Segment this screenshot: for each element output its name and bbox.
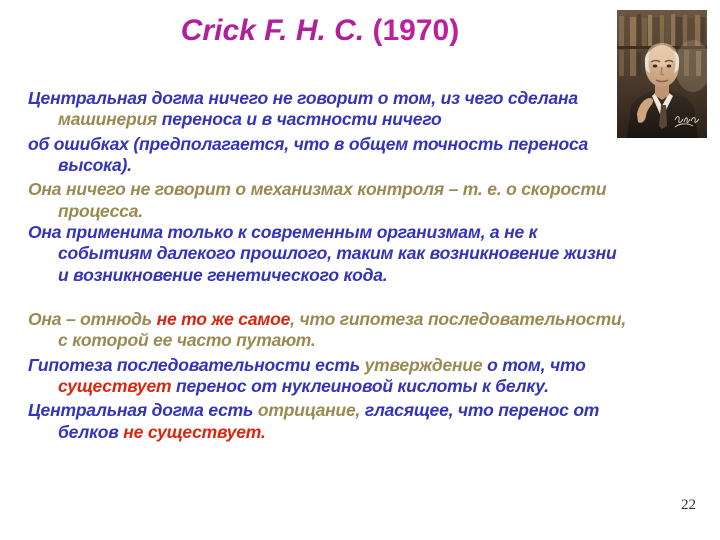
run-text: Она применима только к современным орган… (28, 222, 616, 285)
bullet-paragraph-1: Центральная догма ничего не говорит о то… (28, 88, 628, 131)
slide-body: Центральная догма ничего не говорит о то… (28, 88, 628, 443)
run-text: Центральная догма ничего не говорит о то… (28, 88, 578, 108)
run-text: Центральная догма есть (28, 400, 258, 420)
bullet-paragraph-2: об ошибках (предполагается, что в общем … (28, 134, 628, 177)
bullet-paragraph-4: Она применима только к современным орган… (28, 222, 628, 286)
run-text: Она – отнюдь (28, 309, 157, 329)
run-text-highlight-not-the-same: не то же самое (157, 309, 291, 329)
title-year: (1970) (364, 14, 459, 47)
bullet-paragraph-5: Она – отнюдь не то же самое, что гипотез… (28, 309, 628, 352)
portrait-photo-frame (617, 10, 707, 138)
run-text: переноса и в частности ничего (157, 109, 441, 129)
run-text: Гипотеза последовательности есть (28, 355, 365, 375)
bullet-paragraph-3: Она ничего не говорит о механизмах контр… (28, 179, 628, 222)
slide-root: Crick F. H. C. (1970) (0, 0, 720, 540)
run-text-highlight-machinery: машинерия (58, 109, 157, 129)
run-text: Она ничего не говорит о механизмах контр… (28, 179, 606, 220)
run-text-highlight-statement: утверждение (365, 355, 483, 375)
bullet-paragraph-7: Центральная догма есть отрицание, гласящ… (28, 400, 628, 443)
portrait-photo (617, 10, 707, 138)
run-text: перенос от нуклеиновой кислоты к белку. (171, 376, 548, 396)
page-number: 22 (681, 497, 696, 514)
bullet-paragraph-6: Гипотеза последовательности есть утвержд… (28, 355, 628, 398)
title-author: Crick F. H. C. (181, 14, 364, 47)
paragraph-spacer (28, 286, 628, 306)
run-text: об ошибках (предполагается, что в общем … (28, 134, 588, 175)
run-text: о том, что (482, 355, 585, 375)
run-text-highlight-exists: существует (58, 376, 171, 396)
page-title: Crick F. H. C. (1970) (60, 14, 580, 47)
run-text-highlight-negation: отрицание, (258, 400, 360, 420)
portrait-image (617, 10, 707, 138)
run-text-highlight-does-not-exist: не существует. (123, 422, 265, 442)
